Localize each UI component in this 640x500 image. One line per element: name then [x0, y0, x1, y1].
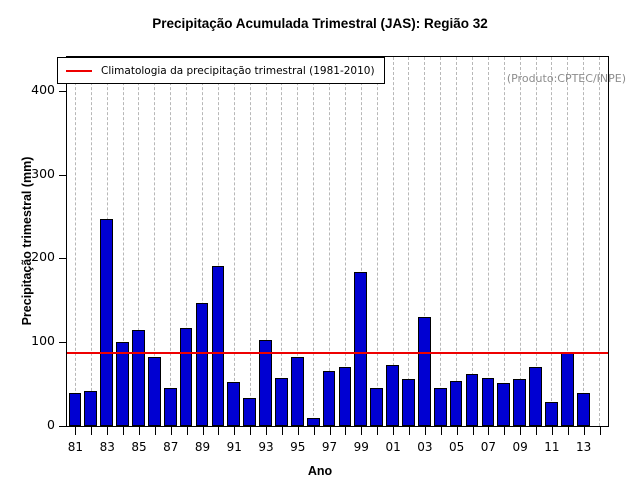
- gridline-14: [599, 57, 600, 426]
- bar: [402, 379, 415, 426]
- bar: [497, 383, 510, 426]
- gridline-00: [377, 57, 378, 426]
- x-tick-mark: [282, 427, 283, 435]
- bar: [529, 367, 542, 426]
- bar: [132, 330, 145, 426]
- bar: [577, 393, 590, 426]
- gridline-91: [234, 57, 235, 426]
- y-tick-label: 100: [31, 333, 55, 348]
- bar: [434, 388, 447, 426]
- gridline-11: [551, 57, 552, 426]
- bar: [307, 418, 320, 426]
- x-tick-label: 13: [569, 440, 599, 454]
- bar: [116, 342, 129, 426]
- x-tick-mark: [234, 427, 235, 435]
- bar: [323, 371, 336, 426]
- y-axis-label: Precipitação trimestral (mm): [20, 81, 34, 401]
- y-tick-label: 400: [31, 82, 55, 97]
- gridline-02: [408, 57, 409, 426]
- x-tick-label: 91: [219, 440, 249, 454]
- y-tick-label: 200: [31, 249, 55, 264]
- gridline-06: [472, 57, 473, 426]
- bar: [386, 365, 399, 426]
- bar: [148, 357, 161, 426]
- x-tick-mark: [155, 427, 156, 435]
- gridline-05: [456, 57, 457, 426]
- x-tick-mark: [457, 427, 458, 435]
- x-tick-mark: [584, 427, 585, 435]
- x-tick-label: 89: [188, 440, 218, 454]
- x-tick-mark: [250, 427, 251, 435]
- bar: [212, 266, 225, 426]
- bar: [227, 382, 240, 426]
- x-tick-label: 95: [283, 440, 313, 454]
- bar: [243, 398, 256, 426]
- x-tick-mark: [425, 427, 426, 435]
- bar: [275, 378, 288, 426]
- precipitation-bar-chart-figure: Precipitação Acumulada Trimestral (JAS):…: [0, 0, 640, 500]
- gridline-04: [440, 57, 441, 426]
- bar: [513, 379, 526, 426]
- x-tick-mark: [600, 427, 601, 435]
- gridline-92: [250, 57, 251, 426]
- x-tick-mark: [377, 427, 378, 435]
- bar: [339, 367, 352, 426]
- x-tick-mark: [568, 427, 569, 435]
- gridline-82: [91, 57, 92, 426]
- x-tick-mark: [123, 427, 124, 435]
- y-tick-label: 300: [31, 166, 55, 181]
- bar: [291, 357, 304, 426]
- y-tick-mark: [59, 426, 66, 427]
- x-tick-mark: [488, 427, 489, 435]
- x-tick-label: 07: [473, 440, 503, 454]
- x-tick-mark: [441, 427, 442, 435]
- y-tick-mark: [59, 342, 66, 343]
- x-tick-label: 09: [505, 440, 535, 454]
- x-tick-mark: [139, 427, 140, 435]
- gridline-13: [583, 57, 584, 426]
- x-tick-mark: [91, 427, 92, 435]
- bar: [482, 378, 495, 427]
- x-tick-label: 01: [378, 440, 408, 454]
- bar: [69, 393, 82, 426]
- x-tick-mark: [218, 427, 219, 435]
- gridline-81: [75, 57, 76, 426]
- x-tick-label: 99: [346, 440, 376, 454]
- bar: [354, 272, 367, 426]
- bar: [466, 374, 479, 426]
- plot-area: [66, 56, 609, 427]
- x-tick-mark: [75, 427, 76, 435]
- gridline-09: [520, 57, 521, 426]
- x-tick-label: 05: [442, 440, 472, 454]
- x-axis-label: Ano: [0, 464, 640, 478]
- x-tick-mark: [536, 427, 537, 435]
- x-tick-mark: [345, 427, 346, 435]
- x-tick-mark: [473, 427, 474, 435]
- bar: [100, 219, 113, 426]
- x-tick-mark: [361, 427, 362, 435]
- chart-title: Precipitação Acumulada Trimestral (JAS):…: [0, 16, 640, 31]
- bar: [164, 388, 177, 426]
- x-tick-mark: [314, 427, 315, 435]
- bar: [180, 328, 193, 426]
- legend: Climatologia da precipitação trimestral …: [57, 57, 385, 84]
- bar: [561, 353, 574, 426]
- bar: [370, 388, 383, 426]
- x-tick-mark: [298, 427, 299, 435]
- x-tick-label: 03: [410, 440, 440, 454]
- x-tick-mark: [171, 427, 172, 435]
- product-credit: (Produto:CPTEC/INPE): [507, 72, 626, 85]
- gridline-94: [281, 57, 282, 426]
- bar: [418, 317, 431, 426]
- x-tick-mark: [552, 427, 553, 435]
- gridline-07: [488, 57, 489, 426]
- bar: [84, 391, 97, 426]
- climatology-line: [67, 352, 608, 354]
- x-tick-label: 81: [60, 440, 90, 454]
- y-tick-label: 0: [47, 417, 55, 432]
- x-tick-mark: [393, 427, 394, 435]
- x-tick-label: 93: [251, 440, 281, 454]
- bar: [545, 402, 558, 426]
- x-tick-mark: [409, 427, 410, 435]
- x-tick-mark: [520, 427, 521, 435]
- x-tick-mark: [266, 427, 267, 435]
- x-tick-mark: [187, 427, 188, 435]
- x-tick-label: 97: [315, 440, 345, 454]
- y-tick-mark: [59, 175, 66, 176]
- x-tick-label: 87: [156, 440, 186, 454]
- y-tick-mark: [59, 258, 66, 259]
- legend-line-swatch: [66, 70, 92, 72]
- x-tick-label: 85: [124, 440, 154, 454]
- bar: [196, 303, 209, 426]
- gridline-96: [313, 57, 314, 426]
- gridline-08: [504, 57, 505, 426]
- legend-label: Climatologia da precipitação trimestral …: [101, 65, 375, 77]
- x-tick-mark: [107, 427, 108, 435]
- x-tick-mark: [330, 427, 331, 435]
- gridline-87: [170, 57, 171, 426]
- x-tick-mark: [203, 427, 204, 435]
- x-tick-label: 11: [537, 440, 567, 454]
- y-tick-mark: [59, 91, 66, 92]
- bar: [450, 381, 463, 426]
- x-tick-mark: [504, 427, 505, 435]
- x-tick-label: 83: [92, 440, 122, 454]
